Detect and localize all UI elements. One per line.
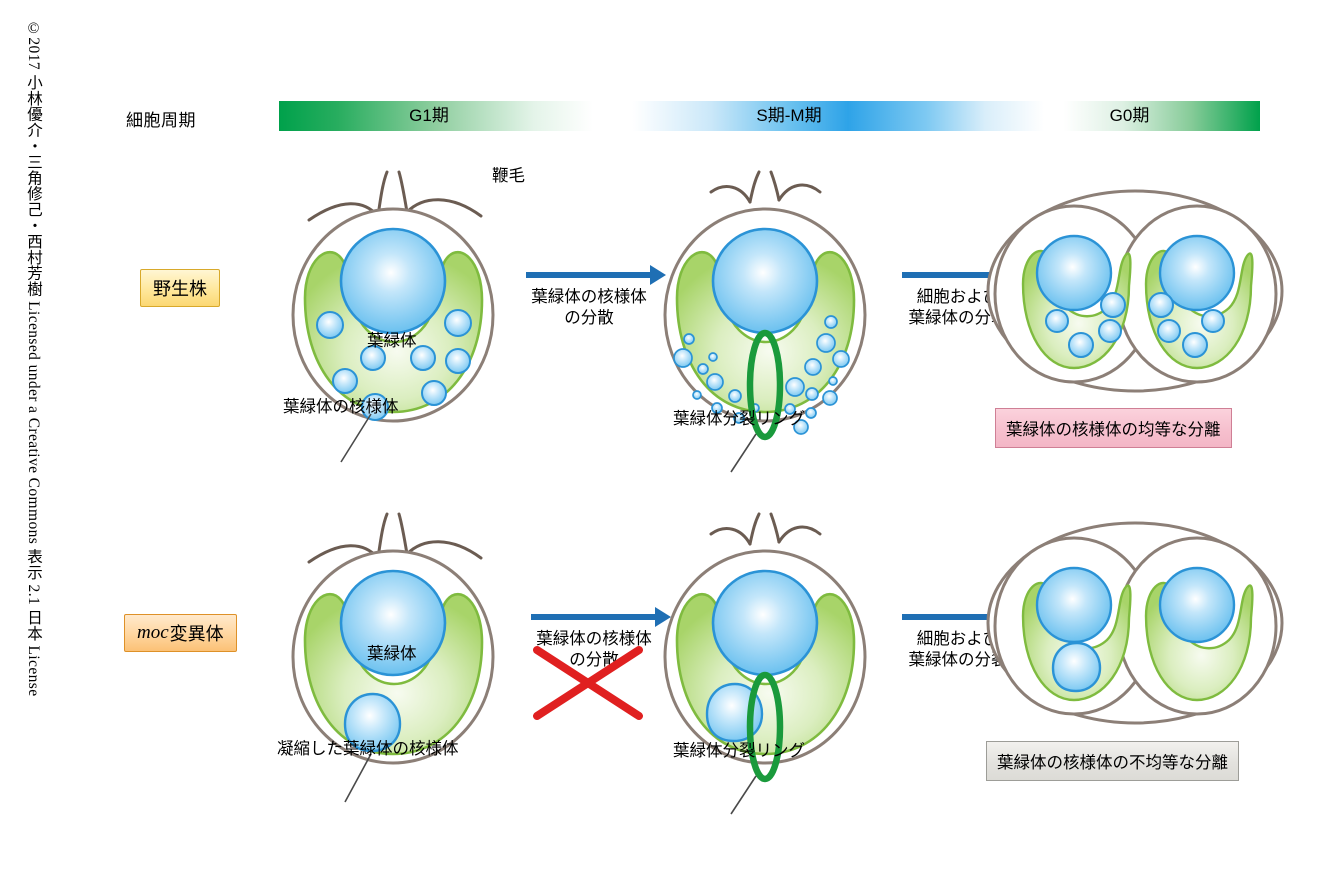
- mut-g0-nucleus-right: [1160, 568, 1234, 642]
- strain-label-wild-type-text: 野生株: [153, 275, 207, 301]
- mut-outcome-box: 葉緑体の核様体の不均等な分離: [986, 741, 1239, 781]
- wt-g0-daughter-cells-diagram: [985, 188, 1285, 398]
- mut-sm-ring-leader-line: [731, 776, 756, 814]
- cell-cycle-phase-bar: G1期 S期-M期 G0期: [279, 101, 1260, 131]
- wt-arrow-1-label: 葉緑体の核様体 の分散: [509, 287, 669, 328]
- wt-sm-ring-leader-line: [731, 434, 756, 472]
- wt-arrow-1-group: 葉緑体の核様体 の分散: [509, 272, 669, 328]
- mut-g0-condensed-nucleoid-left: [1053, 643, 1100, 691]
- strain-label-moc-mutant-text: 変異体: [170, 620, 224, 646]
- mut-sm-nucleus: [713, 571, 817, 675]
- mut-sm-flagella-icon: [711, 514, 820, 544]
- mut-outcome-text: 葉緑体の核様体の不均等な分離: [997, 754, 1228, 772]
- wt-flagellum-callout: 鞭毛: [492, 162, 525, 186]
- wt-g1-nucleoid-leader-line: [341, 414, 371, 462]
- wt-g1-chloroplast-callout: 葉緑体: [367, 327, 417, 351]
- wt-outcome-text: 葉緑体の核様体の均等な分離: [1006, 421, 1221, 439]
- mut-sm-ring-callout: 葉緑体分裂リング: [673, 737, 805, 761]
- strain-label-moc-mutant: moc変異体: [124, 614, 237, 652]
- phase-label-g0: G0期: [999, 101, 1260, 131]
- wt-sm-ring-callout: 葉緑体分裂リング: [673, 405, 805, 429]
- mut-g0-daughter-cells-diagram: [985, 520, 1285, 730]
- mut-arrow-1-icon: [531, 614, 657, 620]
- wt-outcome-box: 葉緑体の核様体の均等な分離: [995, 408, 1232, 448]
- phase-label-s-m: S期-M期: [579, 101, 999, 131]
- mut-g1-chloroplast-callout: 葉緑体: [367, 640, 417, 664]
- strain-label-moc-gene: moc: [137, 622, 169, 644]
- copyright-notice: ©2017 小林優介・三角修己・西村芳樹 Licensed under a Cr…: [4, 20, 44, 870]
- mut-g1-nucleoid-leader-line: [345, 754, 371, 802]
- phase-label-g1: G1期: [279, 101, 579, 131]
- mut-g0-nucleus-left: [1037, 568, 1111, 642]
- wt-sm-nucleus: [713, 229, 817, 333]
- wt-arrow-1-icon: [526, 272, 652, 278]
- wt-sm-flagella-icon: [711, 172, 820, 202]
- cell-cycle-row-label: 細胞周期: [126, 106, 196, 131]
- mut-blocked-cross-icon: [525, 640, 655, 726]
- wt-g1-nucleus: [341, 229, 445, 333]
- strain-label-wild-type: 野生株: [140, 269, 220, 307]
- mut-g1-nucleoid-callout: 凝縮した葉緑体の核様体: [277, 735, 459, 759]
- wt-g1-nucleoid-callout: 葉緑体の核様体: [283, 393, 399, 417]
- wt-g0-nucleus-left: [1037, 236, 1111, 310]
